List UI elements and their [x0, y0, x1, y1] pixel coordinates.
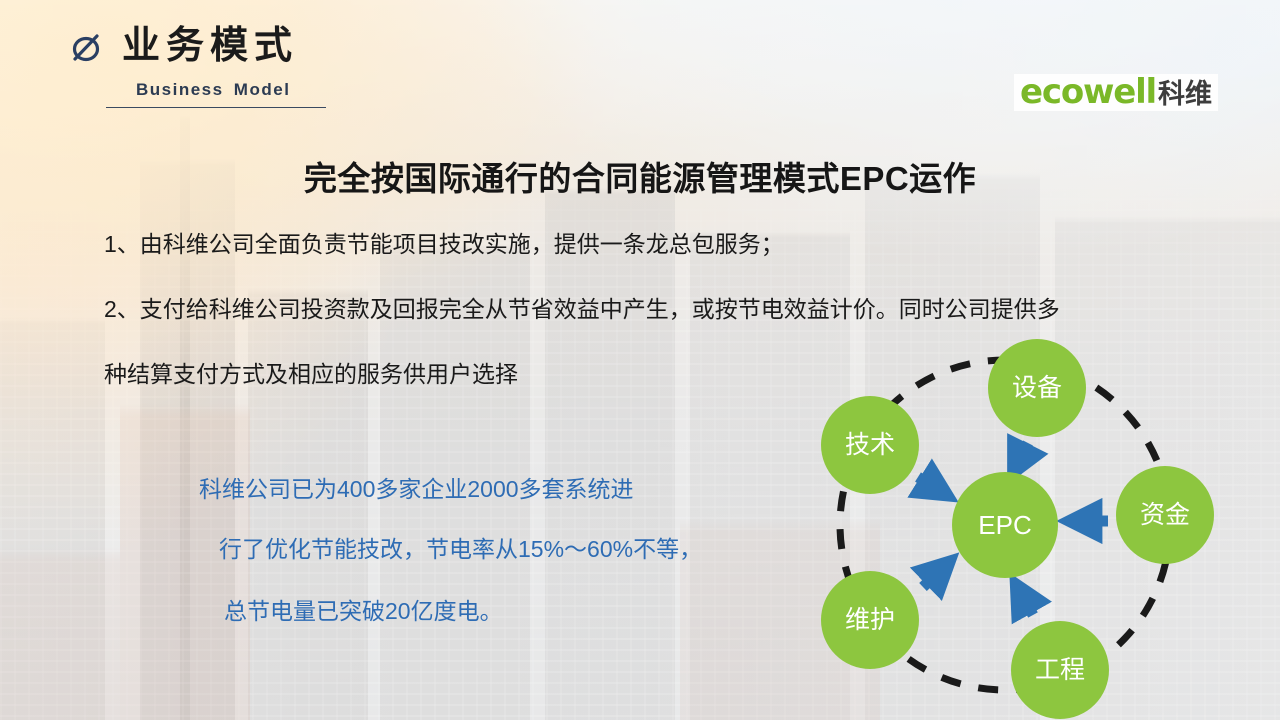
node-label: 维护: [845, 606, 895, 634]
highlight-line-3: 总节电量已突破20亿度电。: [224, 600, 503, 623]
slashed-circle-icon: [66, 26, 106, 66]
node-label: 资金: [1140, 501, 1190, 529]
slide-main-title: 完全按国际通行的合同能源管理模式EPC运作: [0, 152, 1280, 200]
node-label: 设备: [1012, 374, 1062, 402]
page-title: 业务模式: [122, 27, 298, 65]
highlight-line-2: 行了优化节能技改，节电率从15%～60%不等，: [219, 538, 702, 561]
slide-canvas: 业务模式 Business Model ecowell 科维 完全按国际通行的合…: [0, 0, 1280, 720]
bullet-item-2-line-1: 2、支付给科维公司投资款及回报完全从节省效益中产生，或按节电效益计价。同时公司提…: [104, 298, 1060, 321]
node-engineering: 工程: [1011, 621, 1109, 719]
bullet-item-1: 1、由科维公司全面负责节能项目技改实施，提供一条龙总包服务；: [104, 233, 784, 256]
node-epc-center: EPC: [952, 472, 1058, 578]
logo-chinese-text: 科维: [1158, 81, 1212, 108]
node-technology: 技术: [821, 396, 919, 494]
arrow-from-maintenance: [923, 566, 945, 587]
header-divider: [106, 107, 326, 108]
slide-header: 业务模式 Business Model: [66, 26, 326, 108]
arrow-from-technology: [918, 477, 942, 492]
bullet-item-2-line-2: 种结算支付方式及相应的服务供用户选择: [104, 363, 518, 386]
highlight-line-1: 科维公司已为400多家企业2000多套系统进: [199, 478, 634, 501]
diagram-nodes: 设备资金工程维护技术EPC: [821, 339, 1214, 719]
company-logo: ecowell 科维: [1014, 74, 1218, 111]
logo-english-text: ecowell: [1020, 75, 1156, 109]
header-subtitle: Business Model: [136, 80, 326, 100]
epc-cycle-diagram: 设备资金工程维护技术EPC: [790, 325, 1260, 720]
node-maintenance: 维护: [821, 571, 919, 669]
node-capital: 资金: [1116, 466, 1214, 564]
node-label: 工程: [1035, 656, 1085, 684]
header-title-row: 业务模式: [66, 26, 326, 66]
arrow-from-engineering: [1019, 590, 1033, 615]
node-equipment: 设备: [988, 339, 1086, 437]
arrow-from-equipment: [1016, 443, 1028, 467]
node-label: 技术: [845, 431, 895, 459]
node-label: EPC: [978, 510, 1031, 540]
